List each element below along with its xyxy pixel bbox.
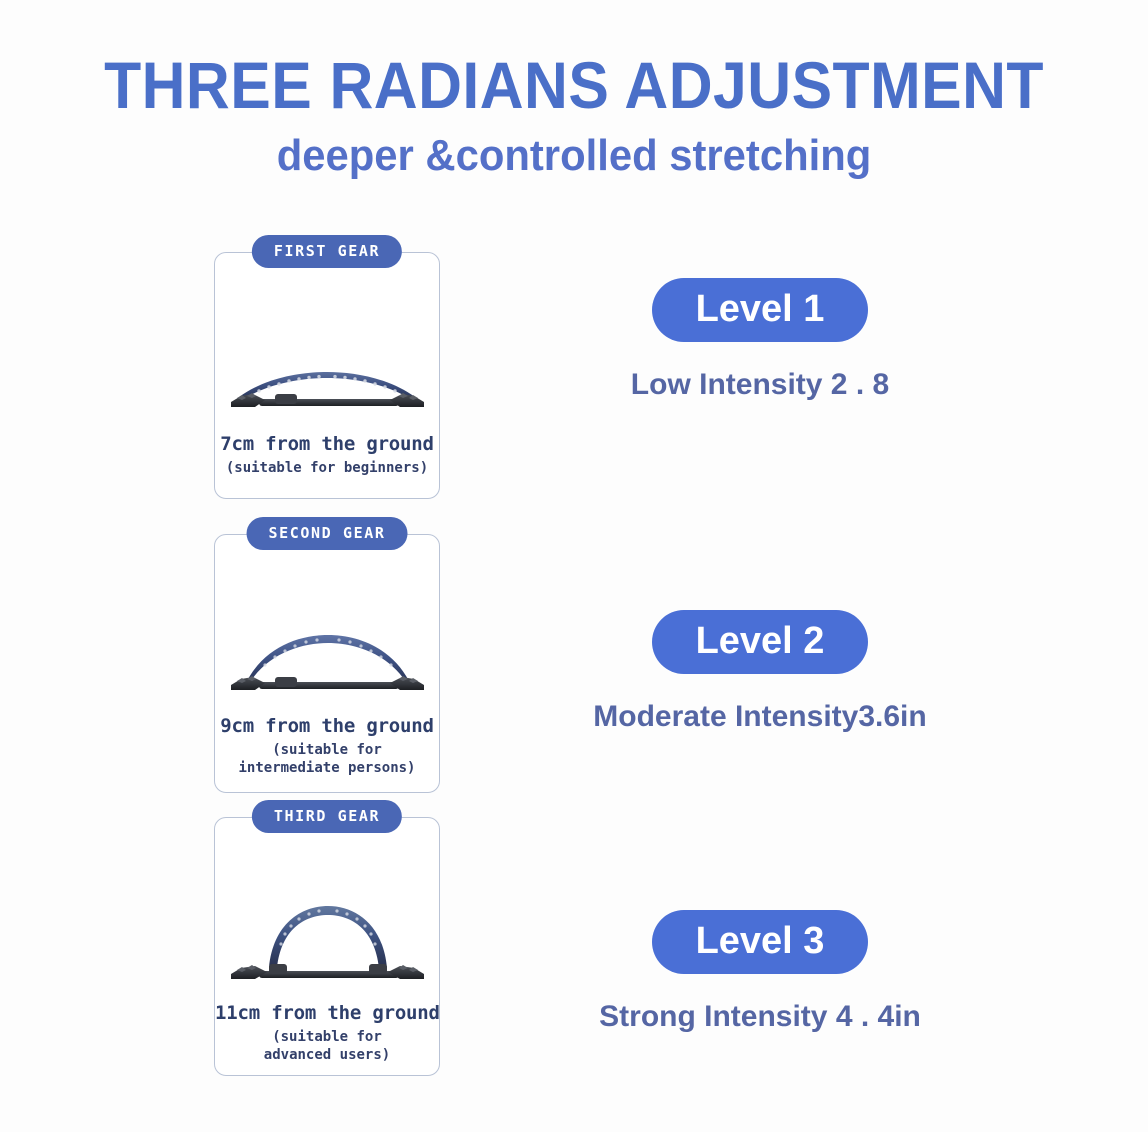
level-badge-1[interactable]: Level 1 (652, 278, 869, 342)
level-badge-3[interactable]: Level 3 (652, 910, 869, 974)
card-caption-first: 7cm from the ground (suitable for beginn… (215, 433, 439, 478)
level-badge-2[interactable]: Level 2 (652, 610, 869, 674)
caption-suitability-first: (suitable for beginners) (215, 460, 439, 478)
caption-suitability-second-line1: (suitable for (215, 742, 439, 760)
level-description-3: Strong Intensity 4 . 4in (560, 1000, 960, 1034)
page-subtitle: deeper &controlled stretching (29, 134, 1120, 178)
gear-card-second[interactable]: SECOND GEAR (214, 534, 440, 793)
page-header: THREE RADIANS ADJUSTMENT deeper &control… (0, 0, 1148, 178)
gear-badge-first: FIRST GEAR (252, 235, 402, 268)
caption-height-second: 9cm from the ground (215, 715, 439, 737)
caption-suitability-second: (suitable for intermediate persons) (215, 742, 439, 777)
back-stretcher-low-arch-icon (225, 361, 430, 411)
product-image-second-gear (215, 613, 439, 695)
caption-suitability-third-line2: advanced users) (215, 1047, 439, 1065)
gear-badge-second: SECOND GEAR (247, 517, 408, 550)
back-stretcher-high-arch-icon (225, 894, 430, 984)
level-block-3: Level 3 Strong Intensity 4 . 4in (560, 910, 960, 1034)
gear-card-first[interactable]: FIRST GEAR (214, 252, 440, 499)
caption-height-third: 11cm from the ground (215, 1002, 439, 1024)
level-block-2: Level 2 Moderate Intensity3.6in (560, 610, 960, 734)
level-description-1: Low Intensity 2 . 8 (560, 368, 960, 402)
main-content: FIRST GEAR (0, 228, 1148, 1108)
caption-suitability-third: (suitable for advanced users) (215, 1029, 439, 1064)
caption-suitability-third-line1: (suitable for (215, 1029, 439, 1047)
gear-card-third[interactable]: THIRD GEAR (214, 817, 440, 1076)
caption-height-first: 7cm from the ground (215, 433, 439, 455)
back-stretcher-medium-arch-icon (225, 623, 430, 695)
gear-badge-third: THIRD GEAR (252, 800, 402, 833)
level-description-2: Moderate Intensity3.6in (560, 700, 960, 734)
card-caption-second: 9cm from the ground (suitable for interm… (215, 715, 439, 777)
level-block-1: Level 1 Low Intensity 2 . 8 (560, 278, 960, 402)
card-caption-third: 11cm from the ground (suitable for advan… (215, 1002, 439, 1064)
caption-suitability-second-line2: intermediate persons) (215, 760, 439, 778)
product-image-third-gear (215, 884, 439, 984)
page-title: THREE RADIANS ADJUSTMENT (46, 52, 1102, 118)
product-image-first-gear (215, 351, 439, 411)
